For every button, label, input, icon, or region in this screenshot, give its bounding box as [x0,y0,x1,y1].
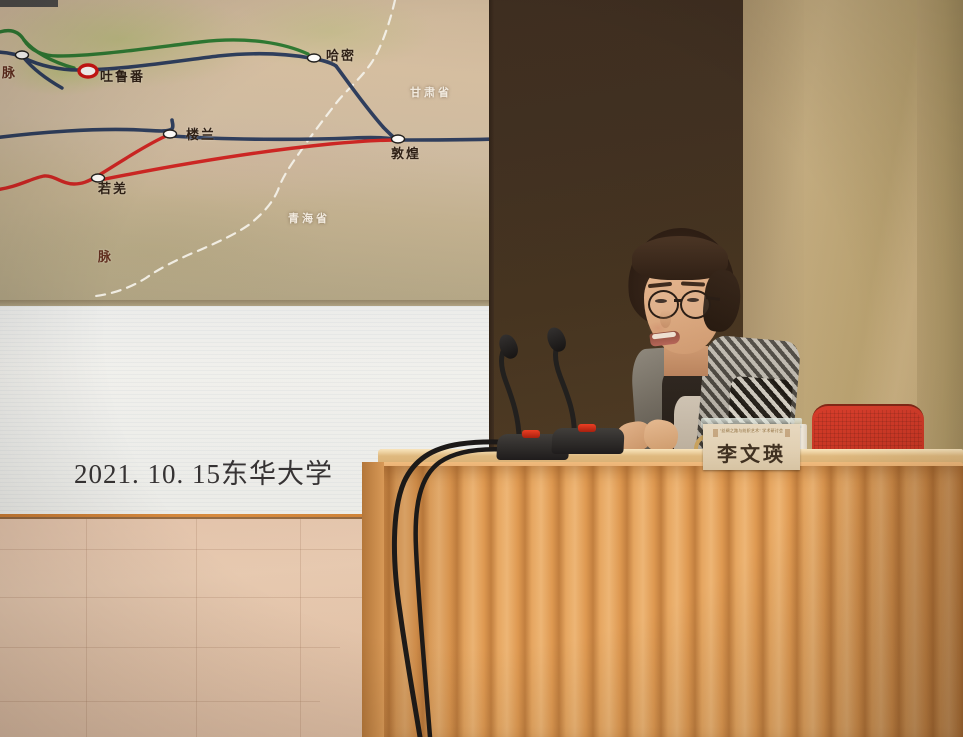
city-marker-unnamed [16,51,29,59]
map-label-gansu-province: 甘肃省 [410,84,452,100]
floor-plank [0,597,370,598]
projection-screen: 吐鲁番 哈密 楼兰 敦煌 若羌 甘肃省 青海省 脉 脉 2021. 10. 15… [0,0,489,520]
table-left-face [362,462,384,737]
slide-map-image: 吐鲁番 哈密 楼兰 敦煌 若羌 甘肃省 青海省 脉 脉 [0,0,489,306]
city-marker-loulan [164,130,177,138]
slide-caption-text: 2021. 10. 15东华大学 [74,452,333,491]
city-marker-dunhuang [392,135,405,143]
photo-scene: 吐鲁番 哈密 楼兰 敦煌 若羌 甘肃省 青海省 脉 脉 2021. 10. 15… [0,0,963,737]
route-central-navy-west [0,120,173,138]
table-skirt-shadow-right [790,466,963,737]
placard-event-title: "丝绸之路与纺织艺术" 学术研讨会 [703,428,800,434]
route-central-navy-descend [336,66,398,140]
route-south-red-west [0,176,96,190]
microphone-led-left [522,430,540,438]
conference-table-highlight [378,449,963,456]
map-label-ruoqiang: 若羌 [98,178,128,197]
city-marker-hami [308,54,321,62]
floor-plank [0,701,320,702]
floor-plank [300,519,301,737]
map-label-mountain-range-1: 脉 [2,62,17,81]
floor-plank [0,647,340,648]
map-label-mountain-range-2: 脉 [98,246,113,265]
glasses-lens-right [680,290,711,319]
floor-plank [0,549,410,550]
route-central-navy-exit [398,139,489,140]
glasses-bridge [674,299,682,302]
floor-plank [196,519,197,737]
top-left-black-bar [0,0,58,7]
placard-speaker-name: 李文瑛 [703,438,800,467]
map-label-loulan: 楼兰 [186,124,216,143]
map-label-turpan: 吐鲁番 [100,66,145,85]
map-label-qinghai-province: 青海省 [288,210,330,226]
map-label-dunhuang: 敦煌 [391,143,421,162]
name-placard: "丝绸之路与纺织艺术" 学术研讨会 李文瑛 [703,424,800,470]
map-label-hami: 哈密 [326,45,356,64]
microphone-led-right [578,424,596,432]
city-marker-turpan [79,65,97,77]
floor-plank [86,519,87,737]
